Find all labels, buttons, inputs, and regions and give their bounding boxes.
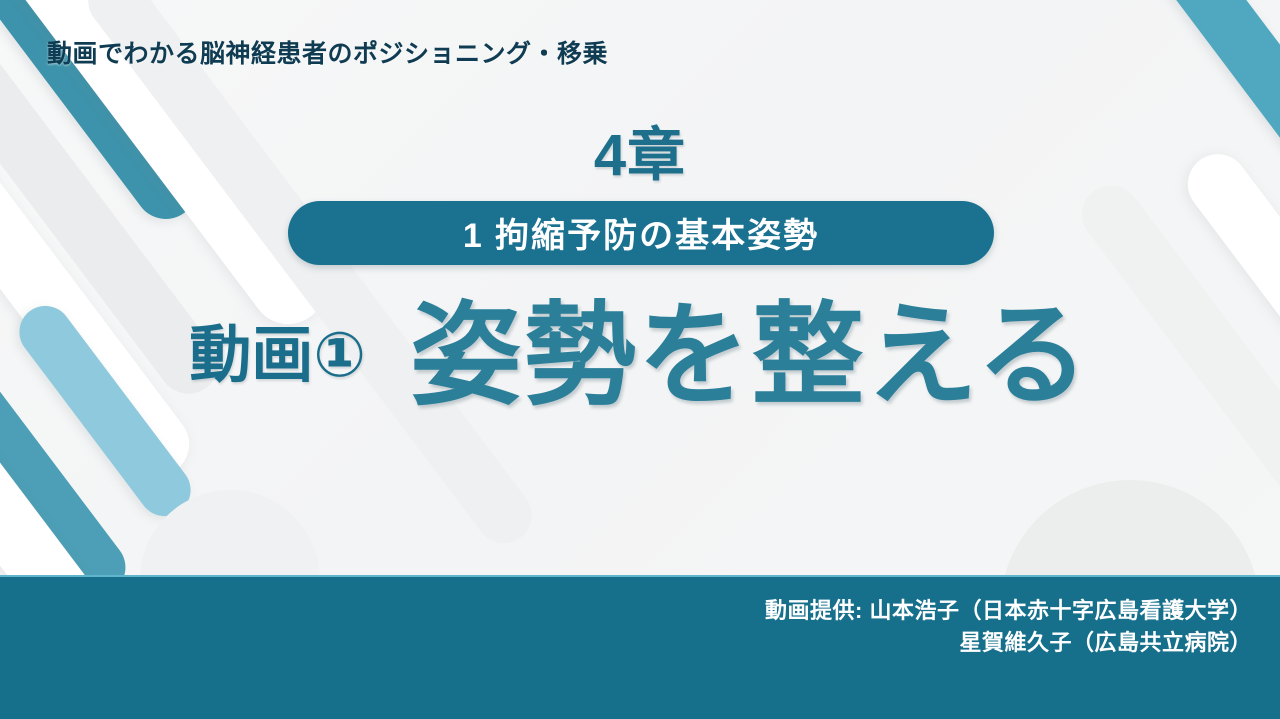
video-number-label: 動画① <box>189 325 366 387</box>
chapter-heading: 4章 <box>0 108 1280 192</box>
credit-line-1: 動画提供: 山本浩子（日本赤十字広島看護大学） <box>765 595 1252 627</box>
credits-block: 動画提供: 山本浩子（日本赤十字広島看護大学） 星賀維久子（広島共立病院） <box>765 595 1252 659</box>
video-title: 姿勢を整える <box>410 300 1091 412</box>
slide-canvas: 動画でわかる脳神経患者のポジショニング・移乗 4章 1 拘縮予防の基本姿勢 動画… <box>0 0 1280 719</box>
section-pill: 1 拘縮予防の基本姿勢 <box>288 201 994 265</box>
credit-line-2: 星賀維久子（広島共立病院） <box>765 627 1252 659</box>
header-title: 動画でわかる脳神経患者のポジショニング・移乗 <box>47 34 608 70</box>
footer-band: 動画提供: 山本浩子（日本赤十字広島看護大学） 星賀維久子（広島共立病院） <box>0 575 1280 719</box>
video-headline: 動画① 姿勢を整える <box>0 300 1280 412</box>
section-pill-label: 1 拘縮予防の基本姿勢 <box>463 208 819 257</box>
